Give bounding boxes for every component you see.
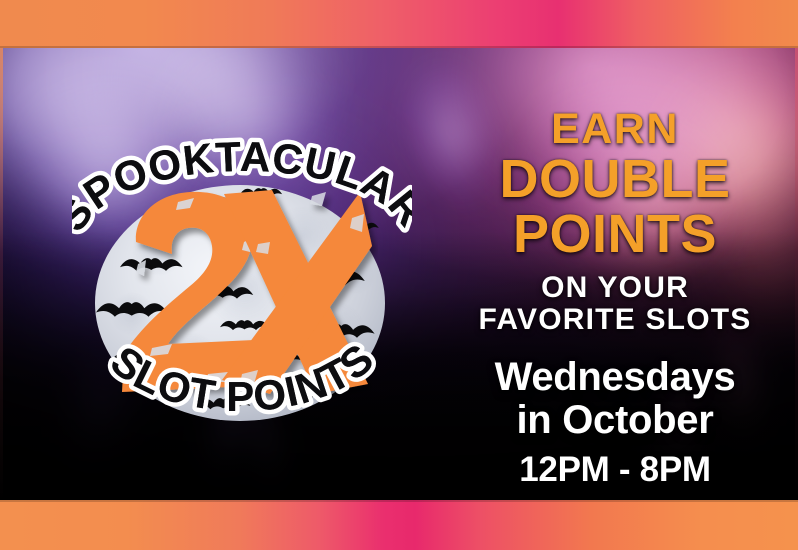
headline-earn: EARN bbox=[551, 108, 679, 151]
bottom-bar-edge bbox=[0, 500, 798, 502]
detail-wednesdays: Wednesdays bbox=[495, 357, 736, 397]
spooktacular-logo: SPOOKTACULAR SPOOKTACULAR SLOT POINTS SL… bbox=[72, 132, 412, 432]
arc-text-spooktacular: SPOOKTACULAR SPOOKTACULAR bbox=[72, 128, 412, 248]
promotion-banner: SPOOKTACULAR SPOOKTACULAR SLOT POINTS SL… bbox=[0, 0, 798, 550]
subhead-favorite-slots: FAVORITE SLOTS bbox=[479, 305, 752, 335]
headline-double: DOUBLE bbox=[500, 152, 731, 206]
top-bar-edge bbox=[0, 46, 798, 48]
bottom-gradient-bar bbox=[0, 500, 798, 550]
spooktacular-fill: SPOOKTACULAR bbox=[72, 133, 412, 240]
left-edge-strip bbox=[0, 48, 3, 500]
arc-text-slot-points: SLOT POINTS SLOT POINTS bbox=[72, 328, 412, 448]
subhead-on-your: ON YOUR bbox=[541, 273, 689, 303]
detail-in-october: in October bbox=[516, 400, 713, 440]
detail-hours: 12PM - 8PM bbox=[519, 452, 711, 487]
promotion-copy-block: EARN DOUBLE POINTS ON YOUR FAVORITE SLOT… bbox=[432, 56, 798, 502]
headline-points: POINTS bbox=[513, 207, 717, 261]
top-gradient-bar bbox=[0, 0, 798, 48]
slot-points-fill: SLOT POINTS bbox=[102, 334, 382, 420]
